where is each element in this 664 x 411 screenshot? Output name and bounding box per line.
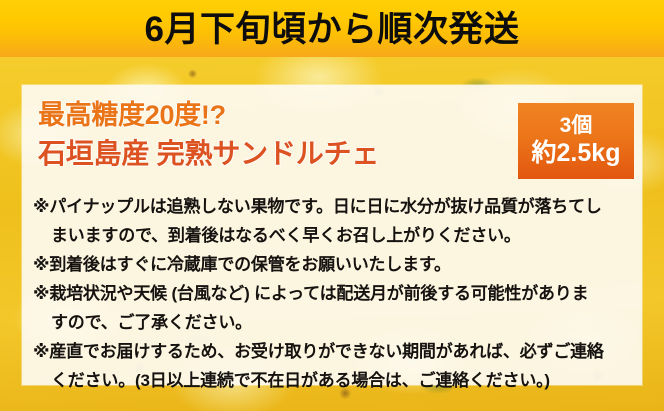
note-item: ※栽培状況や天候 (台風など) によっては配送月が前後する可能性がありま すので… xyxy=(33,279,633,337)
badge-weight-text: 約2.5kg xyxy=(532,140,621,166)
note-line: ください。(3日以上連続で不在日がある場合は、ご連絡ください。) xyxy=(33,366,633,395)
quantity-weight-badge: 3個 約2.5kg xyxy=(518,103,634,179)
note-line: ※パイナップルは追熟しない果物です。日に日に水分が抜け品質が落ちてし xyxy=(33,192,633,221)
note-line: ※産直でお届けするため、お受け取りができない期間があれば、必ずご連絡 xyxy=(33,337,633,366)
sugar-content-headline: 最高糖度20度!? xyxy=(38,100,508,132)
shipping-schedule-banner: 6月下旬頃から順次発送 xyxy=(0,0,664,57)
note-item: ※パイナップルは追熟しない果物です。日に日に水分が抜け品質が落ちてし まいますの… xyxy=(33,192,633,250)
product-promo-banner: 6月下旬頃から順次発送 最高糖度20度!? 石垣島産 完熟サンドルチェ 3個 約… xyxy=(0,0,664,411)
note-line: まいますので、到着後はなるべく早くお召し上がりください。 xyxy=(33,221,633,250)
note-line: ※栽培状況や天候 (台風など) によっては配送月が前後する可能性がありま xyxy=(33,279,633,308)
notes-list: ※パイナップルは追熟しない果物です。日に日に水分が抜け品質が落ちてし まいますの… xyxy=(33,192,633,395)
product-title-block: 最高糖度20度!? 石垣島産 完熟サンドルチェ xyxy=(38,100,508,170)
note-line: すので、ご了承ください。 xyxy=(33,308,633,337)
shipping-schedule-text: 6月下旬頃から順次発送 xyxy=(145,12,520,47)
product-name-headline: 石垣島産 完熟サンドルチェ xyxy=(38,137,508,171)
note-item: ※到着後はすぐに冷蔵庫での保管をお願いいたします。 xyxy=(33,250,633,279)
badge-quantity-text: 3個 xyxy=(560,115,593,137)
note-line: ※到着後はすぐに冷蔵庫での保管をお願いいたします。 xyxy=(33,250,633,279)
note-item: ※産直でお届けするため、お受け取りができない期間があれば、必ずご連絡 ください。… xyxy=(33,337,633,395)
